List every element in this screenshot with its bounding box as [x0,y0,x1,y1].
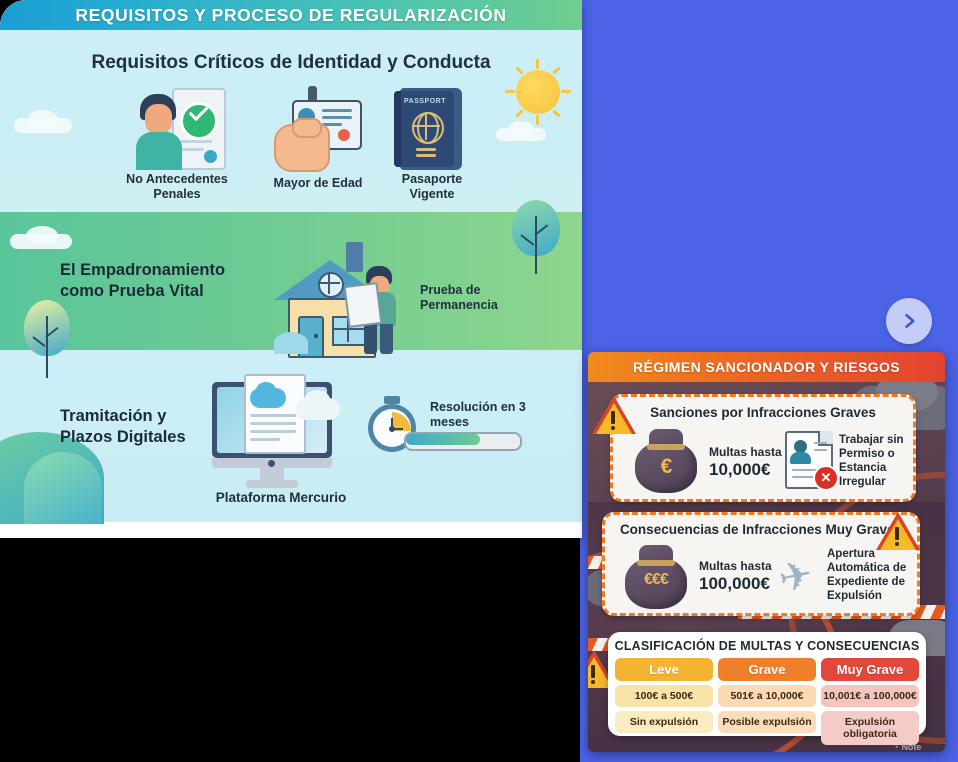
identity-section-heading: Requisitos Críticos de Identidad y Condu… [0,52,582,74]
table-consequence-cell: Posible expulsión [718,711,816,733]
resolution-label: Resolución en 3 meses [430,400,530,430]
infographic-card-regimen-sancionador[interactable]: ⚡ RÉGIMEN SANCIONADOR Y RIESGOS Sancione… [588,352,945,752]
identity-item-label: Mayor de Edad [250,176,386,191]
infographic-card-requisitos[interactable]: REQUISITOS Y PROCESO DE REGULARIZACIÓN R… [0,0,582,538]
money-bag-symbol: €€€ [625,571,687,589]
table-range-cell: 100€ a 500€ [615,685,713,707]
table-header-cell: Leve [615,658,713,681]
document-person-denied-icon: ✕ [785,431,833,489]
stopwatch-icon [362,398,426,462]
next-slide-button[interactable] [886,298,932,344]
money-bag-icon: €€€ [625,543,687,609]
warning-triangle-icon [592,396,636,436]
band-footer [0,522,582,538]
fine-muy-graves: Multas hasta 100,000€ [699,559,772,594]
cloud-icon [26,226,58,245]
screenshot-stage: REQUISITOS Y PROCESO DE REGULARIZACIÓN R… [0,0,958,762]
fine-amount: 100,000€ [699,574,772,594]
gradient-background-card [0,541,580,762]
reason-graves: Trabajar sin Permiso o Estancia Irregula… [839,433,911,489]
table-consequence-cell: Expulsión obligatoria [821,711,919,745]
identity-item-label: Pasaporte Vigente [378,172,486,202]
identity-item-label: No Antecedentes Penales [112,172,242,202]
padron-heading: El Empadronamiento como Prueba Vital [60,260,270,301]
table-column: Muy Grave 10,001€ a 100,000€ Expulsión o… [821,658,919,745]
classification-table[interactable]: CLASIFICACIÓN DE MULTAS Y CONSECUENCIAS … [608,632,926,736]
denied-badge: ✕ [813,465,839,491]
money-bag-icon: € [635,427,697,493]
passport-icon: PASSPORT [392,88,470,172]
table-range-cell: 10,001€ a 100,000€ [821,685,919,707]
cloud-icon [508,121,534,137]
classification-table-grid: Leve 100€ a 500€ Sin expulsión Grave 501… [608,658,926,752]
tree-icon [508,200,564,278]
infographic-body: REQUISITOS Y PROCESO DE REGULARIZACIÓN R… [0,0,582,538]
watermark-label: Note [901,742,921,752]
platform-label: Plataforma Mercurio [196,490,366,506]
table-column: Grave 501€ a 10,000€ Posible expulsión [718,658,816,745]
monitor-cloud-document-icon [212,378,352,490]
consequence-muy-graves: Apertura Automática de Expediente de Exp… [827,547,909,603]
fine-graves: Multas hasta 10,000€ [709,445,782,480]
bush-icon [24,452,102,524]
infographic-title: REQUISITOS Y PROCESO DE REGULARIZACIÓN [75,5,506,26]
risk-header: RÉGIMEN SANCIONADOR Y RIESGOS [588,352,945,382]
airplane-icon: ✈ [775,554,816,600]
table-header-cell: Muy Grave [821,658,919,681]
house-document-person-icon [250,232,418,354]
panel-muy-graves-title: Consecuencias de Infracciones Muy Graves [605,522,917,537]
watermark: ◔ Note [893,742,921,752]
cloud-icon [28,110,58,128]
permanence-label: Prueba de Permanencia [420,283,530,313]
watermark-icon: ◔ [893,742,898,752]
panel-infracciones-muy-graves[interactable]: Consecuencias de Infracciones Muy Graves… [602,512,920,616]
progress-bar-resolution [404,432,522,451]
passport-word: PASSPORT [404,98,446,105]
person-check-icon [136,88,228,170]
warning-triangle-icon [876,512,920,552]
infographic-header: REQUISITOS Y PROCESO DE REGULARIZACIÓN [0,0,582,30]
table-range-cell: 501€ a 10,000€ [718,685,816,707]
panel-infracciones-graves[interactable]: Sanciones por Infracciones Graves € Mult… [610,394,916,502]
digital-heading: Tramitación y Plazos Digitales [60,406,210,447]
fine-caption: Multas hasta [699,559,772,573]
classification-table-title: CLASIFICACIÓN DE MULTAS Y CONSECUENCIAS [608,632,926,658]
money-bag-symbol: € [635,455,697,479]
id-card-hand-icon [272,88,364,170]
tree-icon [20,300,76,382]
risk-title: RÉGIMEN SANCIONADOR Y RIESGOS [633,359,900,375]
table-consequence-cell: Sin expulsión [615,711,713,733]
table-column: Leve 100€ a 500€ Sin expulsión [615,658,713,745]
chevron-right-icon [899,311,919,331]
table-header-cell: Grave [718,658,816,681]
fine-amount: 10,000€ [709,460,782,480]
fine-caption: Multas hasta [709,445,782,459]
panel-graves-title: Sanciones por Infracciones Graves [613,405,913,420]
